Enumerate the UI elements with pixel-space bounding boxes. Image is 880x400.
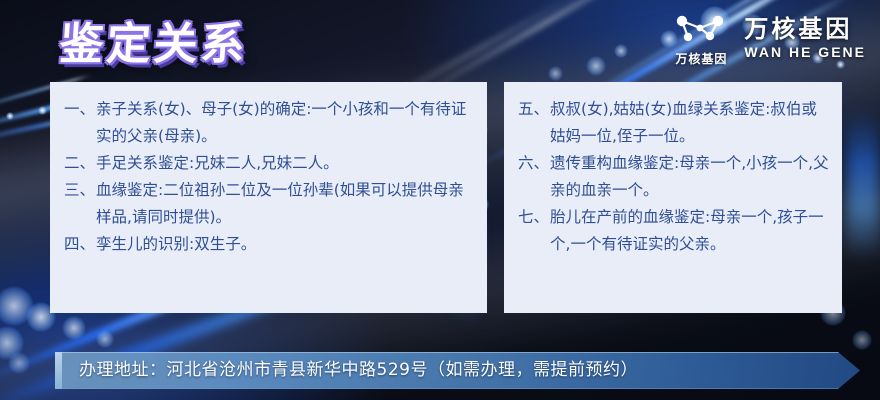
list-item: 一、 亲子关系(女)、母子(女)的确定:一个小孩和一个有待证实的父亲(母亲)。 [64,96,475,150]
list-item: 三、 血缘鉴定:二位祖孙二位及一位孙辈(如果可以提供母亲样品,请同时提供)。 [64,177,475,231]
list-item-text: 胎儿在产前的血缘鉴定:母亲一个,孩子一个,一个有待证实的父亲。 [550,204,830,258]
address-banner: 办理地址：河北省沧州市青县新华中路529号（如需办理，需提前预约） [55,352,860,389]
molecule-node-icon [670,10,732,48]
logo-mark: 万核基因 [670,10,732,67]
services-panel-left: 一、 亲子关系(女)、母子(女)的确定:一个小孩和一个有待证实的父亲(母亲)。 … [50,82,487,313]
page-title: 鉴定关系 [58,8,250,72]
brand-logo: 万核基因 万核基因 WAN HE GENE [670,10,866,67]
list-item-number: 二、 [64,150,96,177]
address-banner-accent [55,352,62,389]
list-item-number: 三、 [64,177,96,204]
services-panel-right: 五、 叔叔(女),姑姑(女)血绿关系鉴定:叔伯或姑妈一位,侄子一位。 六、 遗传… [504,82,842,313]
list-item: 四、 孪生儿的识别:双生子。 [64,231,475,258]
logo-name-en: WAN HE GENE [744,43,866,61]
logo-mark-label: 万核基因 [675,50,727,67]
list-item-text: 亲子关系(女)、母子(女)的确定:一个小孩和一个有待证实的父亲(母亲)。 [96,96,475,150]
list-item-text: 孪生儿的识别:双生子。 [96,231,475,258]
list-item: 六、 遗传重构血缘鉴定:母亲一个,小孩一个,父亲的血亲一个。 [518,150,830,204]
list-item-text: 遗传重构血缘鉴定:母亲一个,小孩一个,父亲的血亲一个。 [550,150,830,204]
list-item-text: 血缘鉴定:二位祖孙二位及一位孙辈(如果可以提供母亲样品,请同时提供)。 [96,177,475,231]
list-item-number: 四、 [64,231,96,258]
poster-canvas: 鉴定关系 万核基因 [0,0,880,400]
logo-wordmark: 万核基因 WAN HE GENE [744,16,866,62]
list-item: 二、 手足关系鉴定:兄妹二人,兄妹二人。 [64,150,475,177]
address-text: 办理地址：河北省沧州市青县新华中路529号（如需办理，需提前预约） [79,352,638,389]
list-item-number: 五、 [518,96,550,123]
logo-name-cn: 万核基因 [744,16,852,44]
list-item-number: 七、 [518,204,550,231]
list-item-text: 叔叔(女),姑姑(女)血绿关系鉴定:叔伯或姑妈一位,侄子一位。 [550,96,830,150]
list-item-number: 一、 [64,96,96,123]
list-item-number: 六、 [518,150,550,177]
list-item: 五、 叔叔(女),姑姑(女)血绿关系鉴定:叔伯或姑妈一位,侄子一位。 [518,96,830,150]
list-item-text: 手足关系鉴定:兄妹二人,兄妹二人。 [96,150,475,177]
list-item: 七、 胎儿在产前的血缘鉴定:母亲一个,孩子一个,一个有待证实的父亲。 [518,204,830,258]
